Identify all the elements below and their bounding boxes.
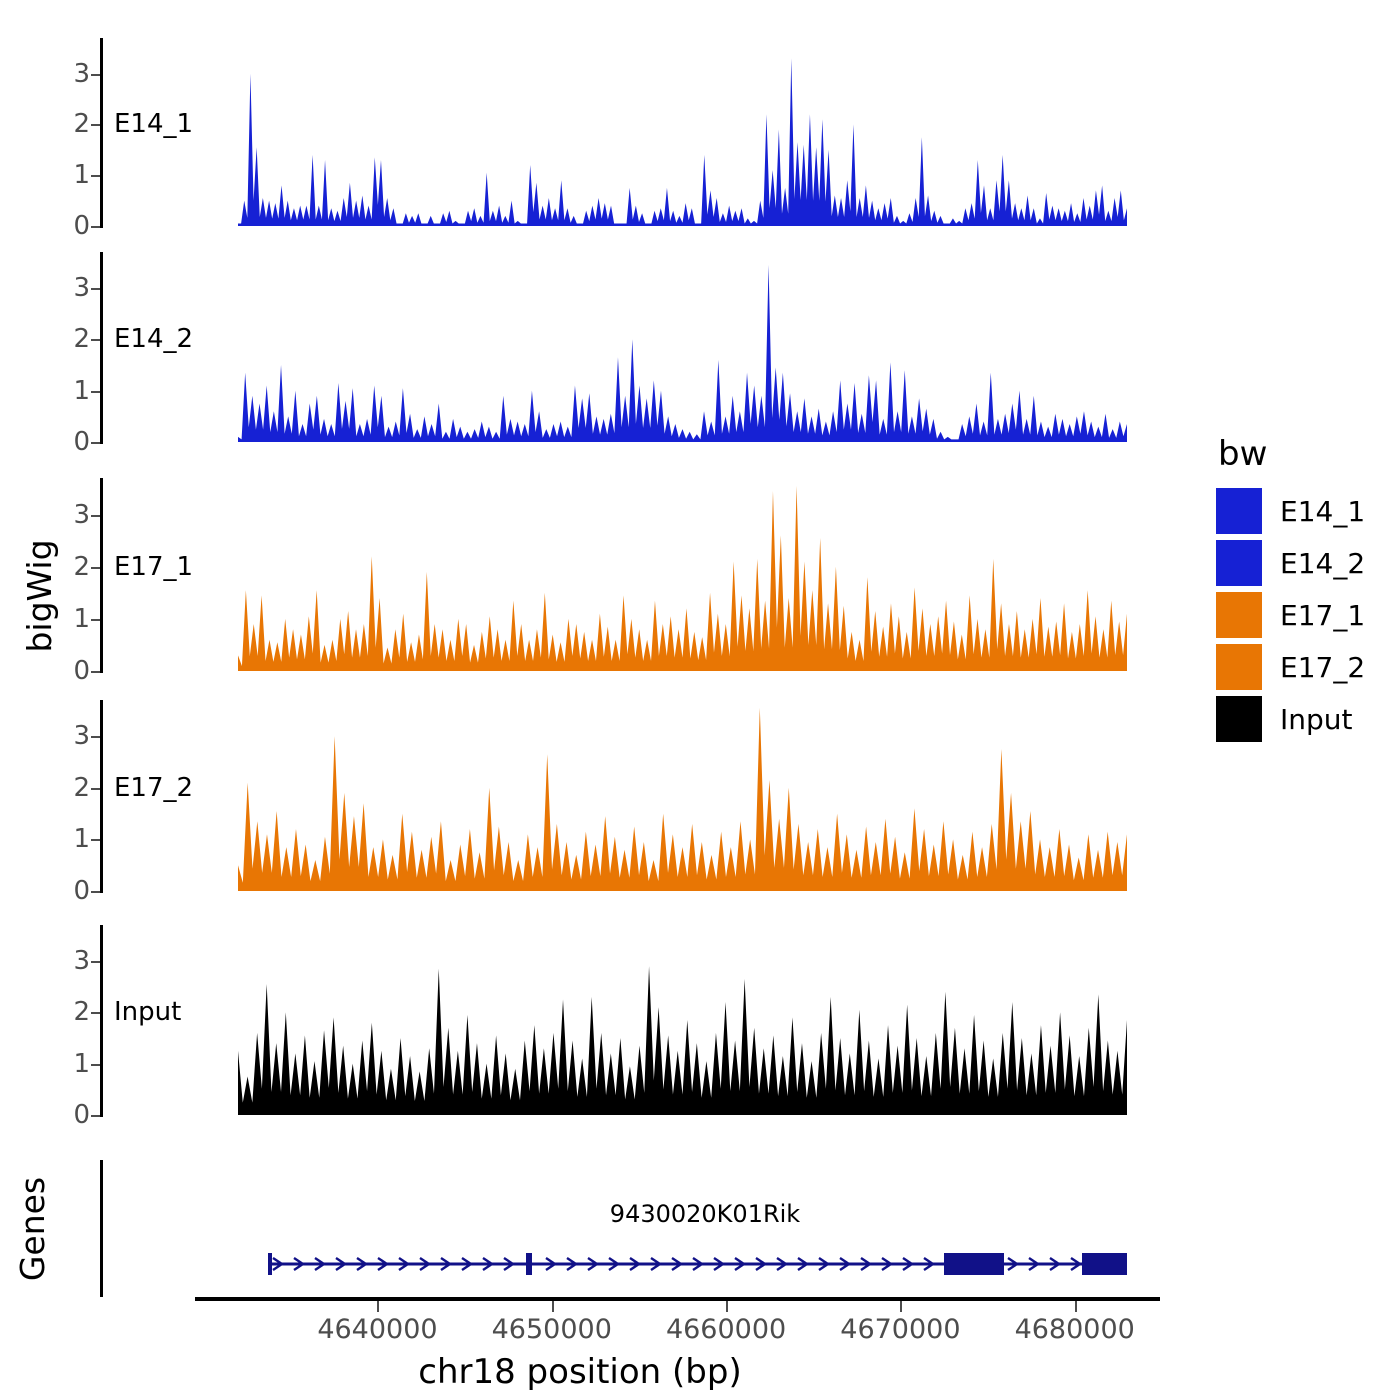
y-tick-label: 3 <box>73 275 90 301</box>
y-tick-label: 1 <box>73 606 90 632</box>
y-tick-mark <box>91 1115 100 1117</box>
y-tick-mark <box>91 1064 100 1066</box>
y-tick-mark <box>91 515 100 517</box>
track-panel-e14_2: 0123E14_2 <box>100 252 1160 444</box>
legend-label: E14_1 <box>1280 495 1365 528</box>
legend-item-e14_2[interactable]: E14_2 <box>1216 537 1365 589</box>
y-tick-mark <box>91 442 100 444</box>
y-tick-mark <box>91 961 100 963</box>
legend-item-e14_1[interactable]: E14_1 <box>1216 485 1365 537</box>
legend-label: E17_1 <box>1280 599 1365 632</box>
y-tick-mark <box>91 288 100 290</box>
y-tick-label: 1 <box>73 1051 90 1077</box>
legend-label: E14_2 <box>1280 547 1365 580</box>
x-tick-mark <box>726 1301 728 1312</box>
y-tick-label: 1 <box>73 162 90 188</box>
x-axis-title: chr18 position (bp) <box>0 1352 1160 1392</box>
signal-area-e14_2 <box>100 252 1160 444</box>
y-tick-mark <box>91 1012 100 1014</box>
track-panel-e17_2: 0123E17_2 <box>100 700 1160 893</box>
y-tick-mark <box>91 671 100 673</box>
y-tick-mark <box>91 74 100 76</box>
y-tick-mark <box>91 175 100 177</box>
x-tick-mark <box>1075 1301 1077 1312</box>
legend-title: bw <box>1218 437 1365 471</box>
gene-track-panel: 9430020K01Rik <box>100 1160 1160 1300</box>
y-tick-label: 3 <box>73 61 90 87</box>
x-tick-mark <box>900 1301 902 1312</box>
x-tick-mark <box>552 1301 554 1312</box>
y-tick-mark <box>91 567 100 569</box>
legend-item-e17_2[interactable]: E17_2 <box>1216 641 1365 693</box>
legend-label: Input <box>1280 703 1353 736</box>
y-tick-label: 3 <box>73 948 90 974</box>
legend-swatch-icon <box>1216 540 1262 586</box>
y-tick-label: 1 <box>73 378 90 404</box>
legend-swatch-icon <box>1216 592 1262 638</box>
y-tick-label: 2 <box>73 326 90 352</box>
y-tick-mark <box>91 736 100 738</box>
y-tick-label: 0 <box>73 1102 90 1128</box>
y-tick-mark <box>91 339 100 341</box>
y-tick-label: 2 <box>73 775 90 801</box>
legend-items: E14_1E14_2E17_1E17_2Input <box>1216 485 1365 745</box>
legend-swatch-icon <box>1216 696 1262 742</box>
y-tick-label: 0 <box>73 213 90 239</box>
gene-model-glyph[interactable] <box>100 1246 1160 1282</box>
x-tick-label: 4670000 <box>840 1314 960 1345</box>
signal-area-e14_1 <box>100 38 1160 228</box>
x-tick-label: 4640000 <box>317 1314 437 1345</box>
legend-item-e17_1[interactable]: E17_1 <box>1216 589 1365 641</box>
y-tick-mark <box>91 891 100 893</box>
y-tick-mark <box>91 839 100 841</box>
y-tick-label: 3 <box>73 502 90 528</box>
x-tick-label: 4680000 <box>1015 1314 1135 1345</box>
legend-item-input[interactable]: Input <box>1216 693 1365 745</box>
track-panel-e14_1: 0123E14_1 <box>100 38 1160 228</box>
genes-axis-strip-label: Genes <box>13 1164 53 1294</box>
bigwig-axis-strip-label: bigWig <box>20 526 60 666</box>
y-tick-label: 3 <box>73 723 90 749</box>
y-tick-mark <box>91 226 100 228</box>
y-tick-mark <box>91 391 100 393</box>
y-tick-mark <box>91 619 100 621</box>
gene-label: 9430020K01Rik <box>610 1200 800 1228</box>
x-axis-line <box>195 1297 1160 1301</box>
y-tick-mark <box>91 788 100 790</box>
genome-browser-figure: bigWig Genes 0123E14_10123E14_20123E17_1… <box>0 0 1400 1400</box>
track-panel-e17_1: 0123E17_1 <box>100 478 1160 673</box>
y-tick-label: 2 <box>73 111 90 137</box>
y-tick-label: 2 <box>73 554 90 580</box>
legend-label: E17_2 <box>1280 651 1365 684</box>
y-tick-mark <box>91 124 100 126</box>
signal-area-e17_1 <box>100 478 1160 673</box>
y-tick-label: 0 <box>73 429 90 455</box>
y-tick-label: 0 <box>73 878 90 904</box>
legend-swatch-icon <box>1216 488 1262 534</box>
legend-swatch-icon <box>1216 644 1262 690</box>
y-tick-label: 2 <box>73 999 90 1025</box>
track-panel-input: 0123Input <box>100 925 1160 1117</box>
y-tick-label: 0 <box>73 658 90 684</box>
x-tick-label: 4650000 <box>492 1314 612 1345</box>
signal-area-input <box>100 925 1160 1117</box>
signal-area-e17_2 <box>100 700 1160 893</box>
legend: bw E14_1E14_2E17_1E17_2Input <box>1216 437 1365 745</box>
x-tick-mark <box>377 1301 379 1312</box>
y-tick-label: 1 <box>73 826 90 852</box>
x-tick-label: 4660000 <box>666 1314 786 1345</box>
